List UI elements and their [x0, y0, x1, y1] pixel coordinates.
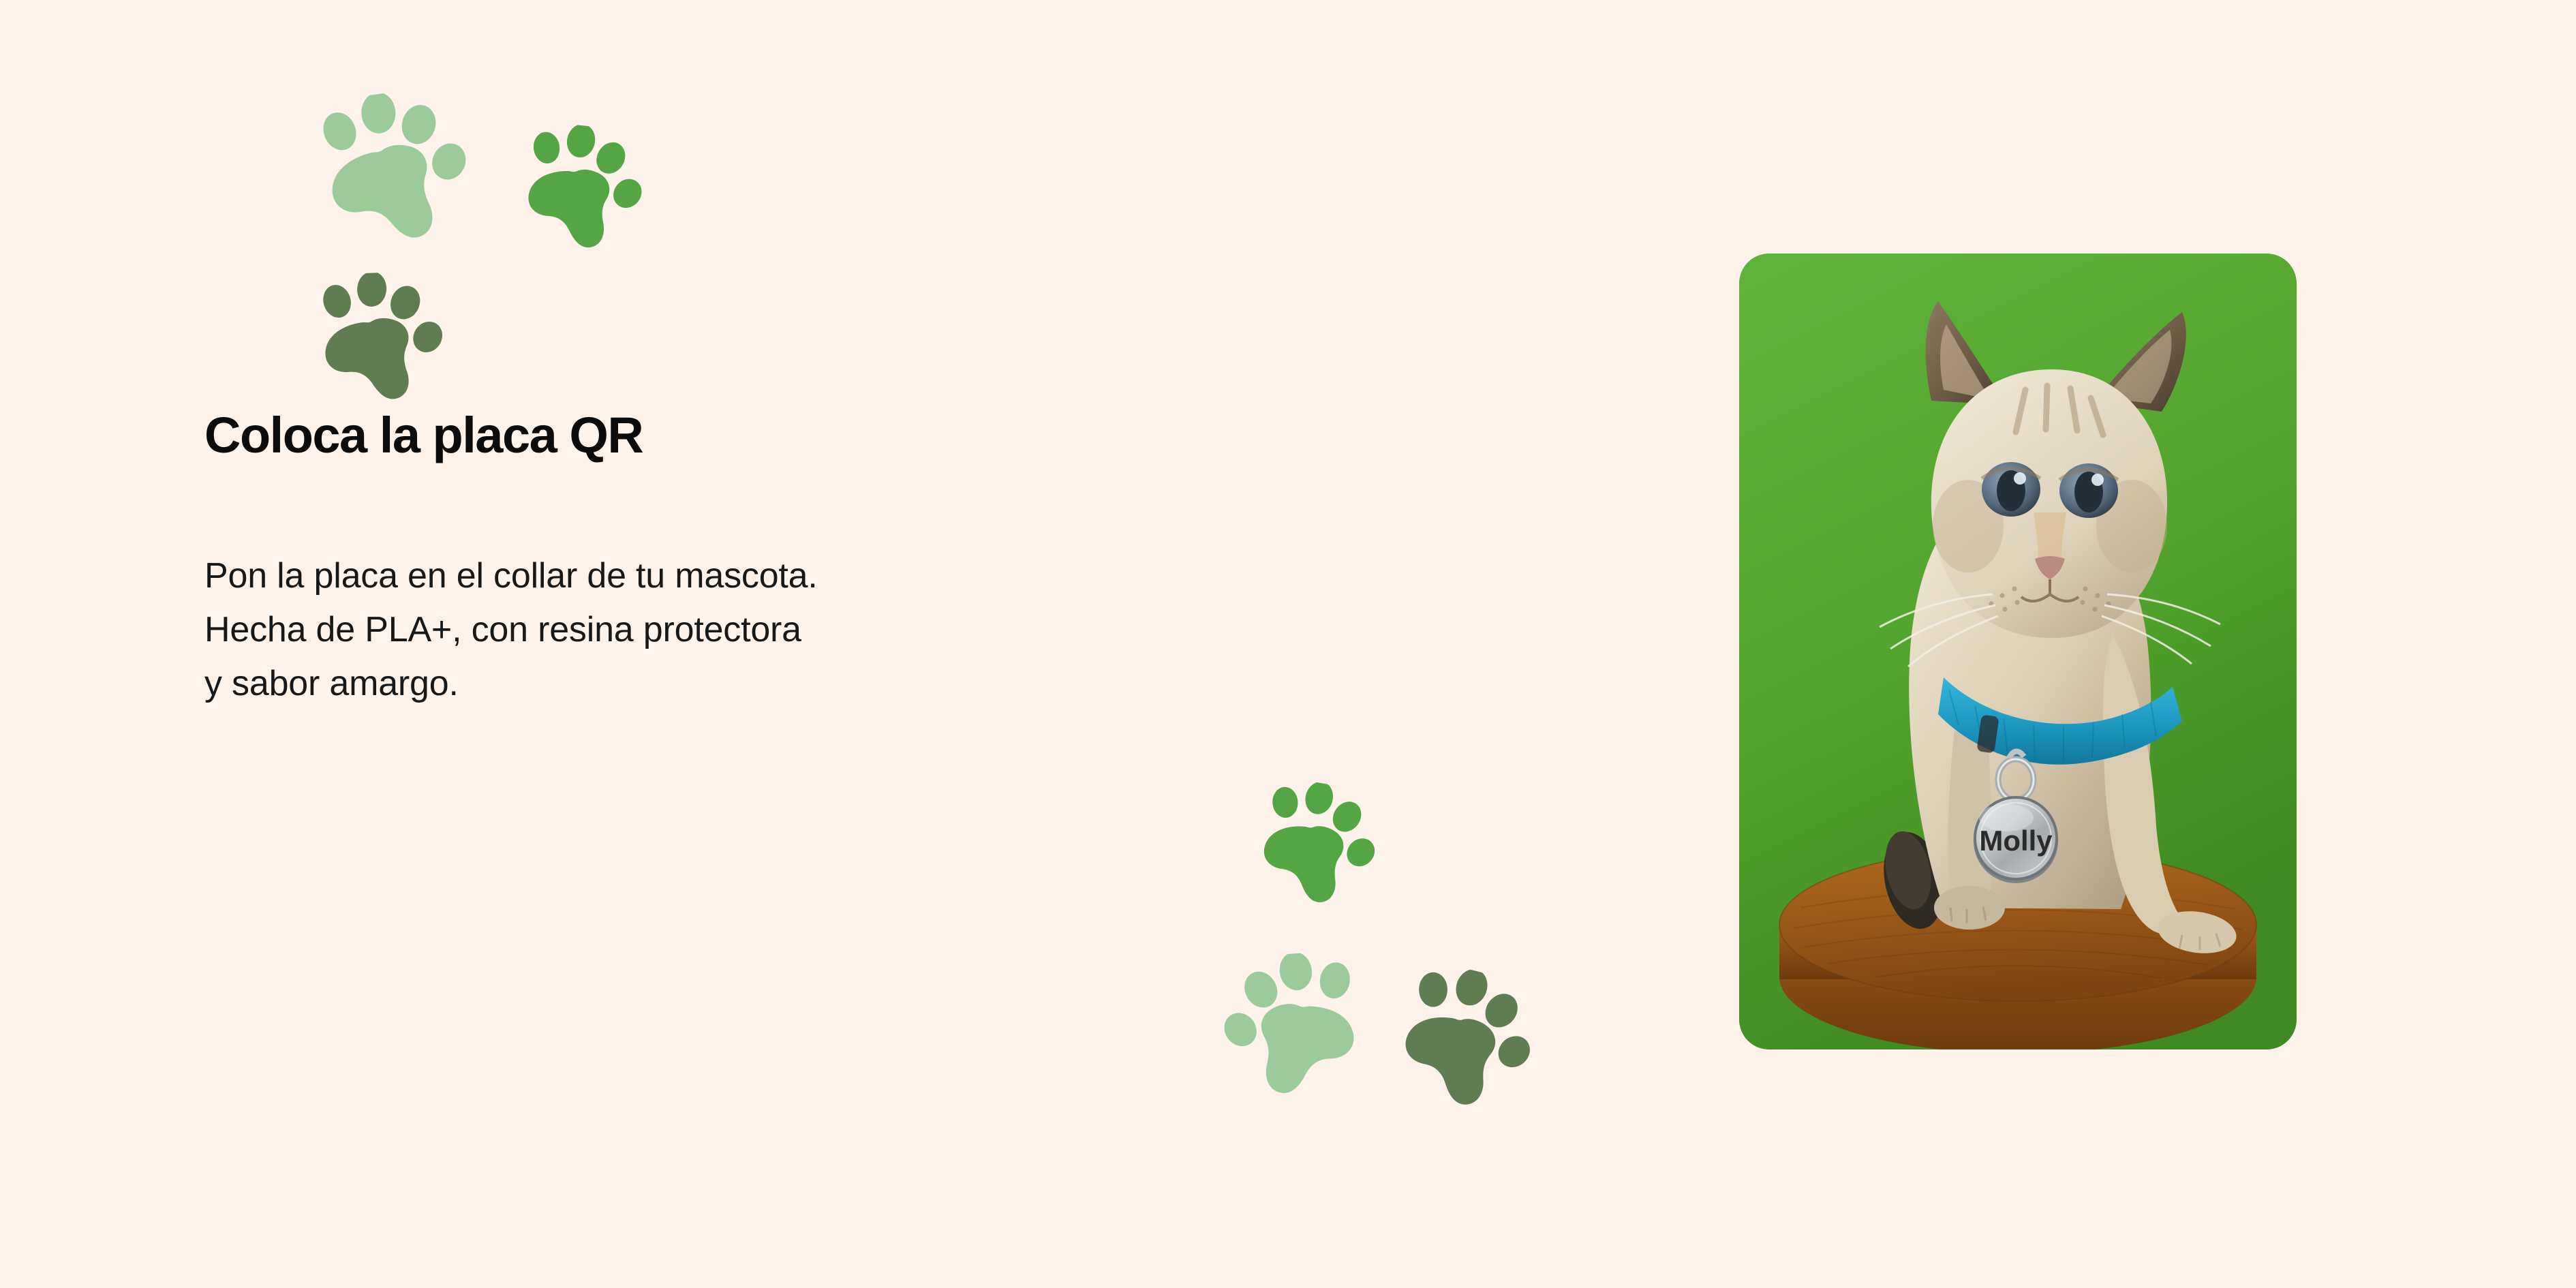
body-line-2: Hecha de PLA+, con resina protectora	[204, 603, 1227, 657]
page-title: Coloca la placa QR	[204, 409, 1363, 462]
paw-bottom-medium-icon	[1240, 773, 1398, 931]
paw-top-dark-icon	[307, 270, 459, 421]
paw-bottom-light-icon	[1204, 949, 1375, 1120]
body-description: Pon la placa en el collar de tu mascota.…	[204, 549, 1227, 711]
paw-bottom-dark-icon	[1374, 955, 1560, 1141]
pet-tag-label: Molly	[1979, 825, 2053, 857]
paw-top-light-icon	[303, 81, 495, 273]
body-line-3: y sabor amargo.	[204, 657, 1227, 711]
pet-photo-card: Molly	[1739, 254, 2297, 1049]
cat-photo-illustration: Molly	[1739, 254, 2297, 1049]
text-column: Coloca la placa QR Pon la placa en el co…	[204, 409, 1363, 711]
promo-banner: Coloca la placa QR Pon la placa en el co…	[0, 0, 2576, 1288]
body-line-1: Pon la placa en el collar de tu mascota.	[204, 549, 1227, 603]
paw-top-medium-icon	[508, 119, 661, 273]
